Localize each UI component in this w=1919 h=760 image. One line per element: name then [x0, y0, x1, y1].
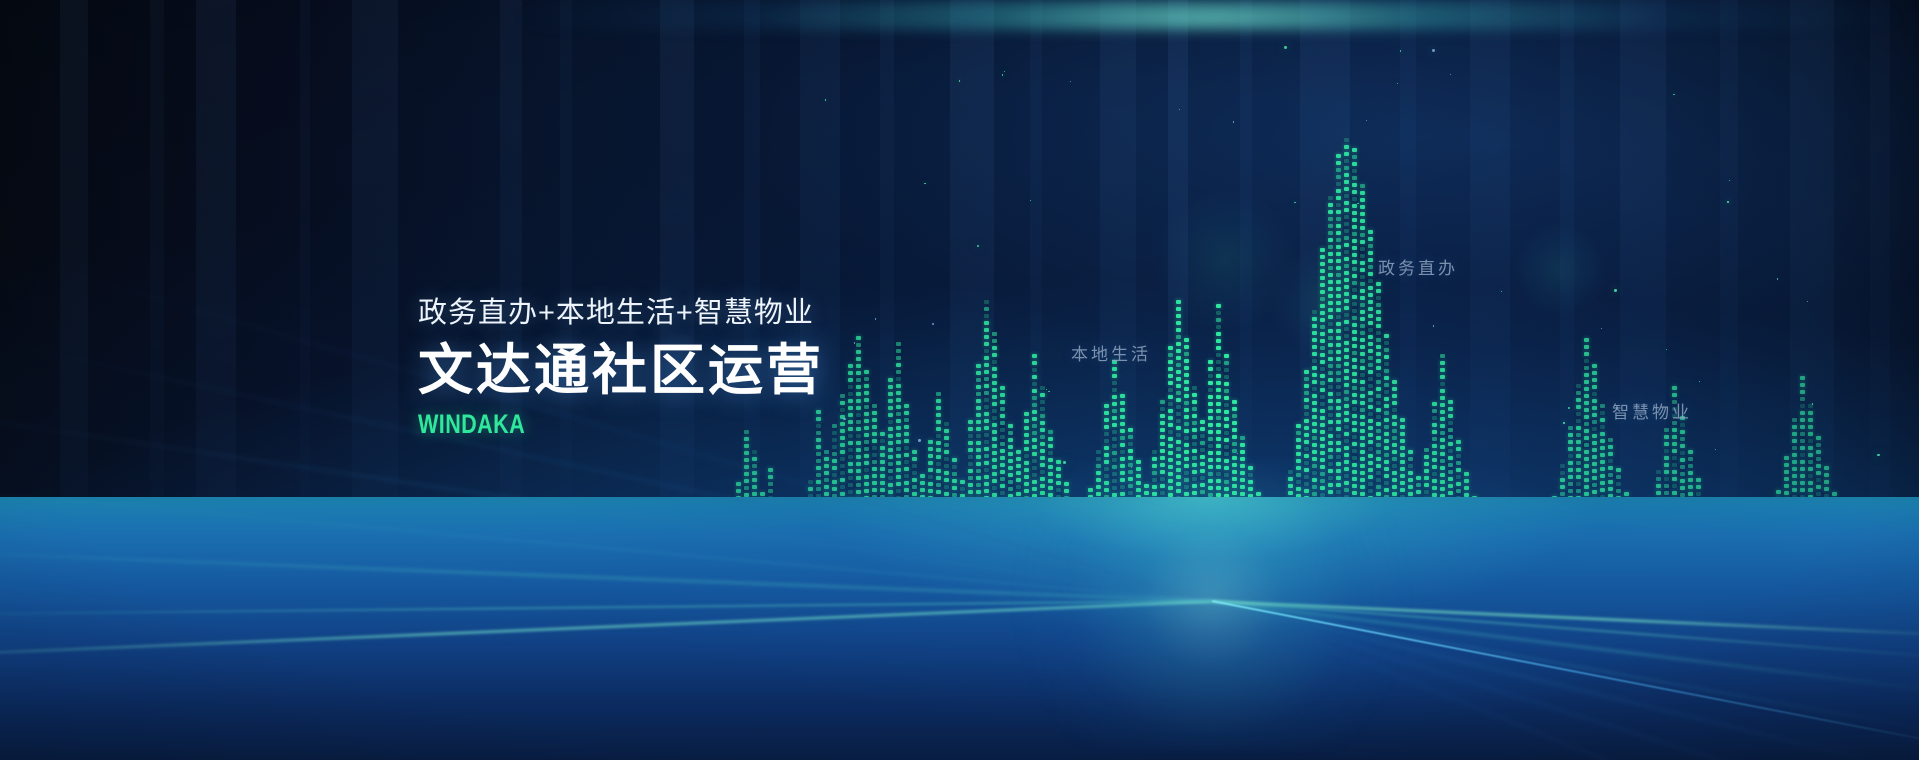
city-pixel: [1880, 579, 1885, 583]
city-pixel-column: [1776, 490, 1781, 600]
city-pixel: [1440, 424, 1445, 428]
city-pixel: [1072, 588, 1077, 592]
city-pixel: [1096, 464, 1101, 468]
city-pixel: [1120, 478, 1125, 482]
city-pixel: [1360, 541, 1365, 545]
city-pixel: [1712, 527, 1717, 531]
city-pixel: [1808, 404, 1813, 408]
city-pixel: [1400, 509, 1405, 513]
city-pixel-column: [1168, 346, 1173, 600]
city-pixel: [1552, 545, 1557, 549]
city-pixel: [1320, 437, 1325, 441]
city-pixel: [1664, 463, 1669, 467]
city-pixel: [1584, 492, 1589, 496]
city-pixel: [1344, 509, 1349, 513]
city-pixel: [1576, 475, 1581, 479]
city-pixel: [912, 506, 917, 510]
city-pixel: [1176, 405, 1181, 409]
city-pixel: [1440, 431, 1445, 435]
city-pixel: [1368, 363, 1373, 367]
city-pixel: [1608, 522, 1613, 526]
city-pixel: [992, 584, 997, 588]
city-pixel: [1360, 366, 1365, 370]
city-pixel-column: [1752, 556, 1757, 600]
city-pixel: [856, 581, 861, 585]
city-pixel: [864, 524, 869, 528]
city-pixel: [1080, 551, 1085, 555]
city-pixel: [1808, 579, 1813, 583]
city-pixel: [1192, 589, 1197, 593]
city-pixel: [1872, 573, 1877, 577]
city-pixel: [1768, 525, 1773, 529]
city-pixel: [1256, 555, 1261, 559]
city-pixel: [1360, 450, 1365, 454]
city-pixel: [1224, 368, 1229, 372]
city-pixel: [1560, 590, 1565, 594]
city-pixel: [1360, 520, 1365, 524]
city-pixel: [752, 457, 757, 461]
city-pixel: [1256, 569, 1261, 573]
city-pixel: [1784, 575, 1789, 579]
city-pixel: [1288, 519, 1293, 523]
city-pixel: [1312, 429, 1317, 433]
city-pixel: [1232, 414, 1237, 418]
city-pixel: [1152, 464, 1157, 468]
city-pixel: [1392, 394, 1397, 398]
city-pixel: [768, 587, 773, 591]
city-pixel: [1240, 506, 1245, 510]
city-pixel: [1720, 557, 1725, 561]
city-pixel: [1368, 307, 1373, 311]
city-pixel: [1032, 501, 1037, 505]
city-pixel: [1536, 570, 1541, 574]
city-pixel: [1376, 450, 1381, 454]
city-pixel: [1792, 593, 1797, 597]
city-pixel: [1768, 581, 1773, 585]
city-pixel: [1352, 449, 1357, 453]
city-pixel: [1624, 513, 1629, 517]
city-pixel: [1408, 562, 1413, 566]
city-pixel: [776, 549, 781, 553]
city-pixel: [1560, 548, 1565, 552]
city-pixel: [1888, 585, 1893, 589]
city-pixel: [1144, 505, 1149, 509]
city-pixel: [1624, 562, 1629, 566]
city-pixel: [1344, 152, 1349, 156]
city-pixel: [1576, 580, 1581, 584]
city-pixel: [1024, 545, 1029, 549]
city-pixel: [800, 536, 805, 540]
city-pixel: [1296, 585, 1301, 589]
city-pixel: [808, 571, 813, 575]
city-pixel: [1456, 475, 1461, 479]
city-pixel: [1392, 422, 1397, 426]
city-pixel: [736, 580, 741, 584]
city-pixel: [1016, 562, 1021, 566]
city-pixel: [1104, 481, 1109, 485]
city-pixel: [1336, 238, 1341, 242]
city-pixel: [1424, 490, 1429, 494]
city-pixel: [1376, 317, 1381, 321]
city-pixel: [944, 471, 949, 475]
city-pixel: [816, 466, 821, 470]
city-pixel: [888, 497, 893, 501]
city-pixel: [1216, 542, 1221, 546]
city-pixel: [1344, 453, 1349, 457]
city-pixel: [1168, 542, 1173, 546]
city-pixel: [1368, 496, 1373, 500]
city-pixel: [920, 530, 925, 534]
city-pixel: [760, 541, 765, 545]
city-pixel: [872, 516, 877, 520]
city-pixel: [1112, 395, 1117, 399]
city-pixel-column: [1088, 488, 1093, 600]
city-pixel: [1560, 576, 1565, 580]
city-pixel: [1368, 398, 1373, 402]
city-pixel: [1584, 352, 1589, 356]
city-pixel: [1792, 544, 1797, 548]
city-pixel: [1784, 533, 1789, 537]
city-pixel: [744, 556, 749, 560]
city-pixel: [904, 593, 909, 597]
city-pixel: [1040, 519, 1045, 523]
city-pixel: [1176, 461, 1181, 465]
city-pixel: [752, 513, 757, 517]
city-pixel: [1192, 547, 1197, 551]
city-pixel: [928, 587, 933, 591]
city-pixel: [992, 549, 997, 553]
city-pixel: [1072, 560, 1077, 564]
city-pixel: [1712, 576, 1717, 580]
city-pixel: [1248, 536, 1253, 540]
city-pixel: [936, 476, 941, 480]
city-pixel: [1384, 397, 1389, 401]
city-pixel: [1432, 591, 1437, 595]
city-pixel: [1392, 590, 1397, 594]
city-pixel-column: [1704, 502, 1709, 600]
city-pixel: [1320, 444, 1325, 448]
city-pixel: [1816, 541, 1821, 545]
city-pixel: [1512, 572, 1517, 576]
city-pixel: [984, 454, 989, 458]
city-pixel: [1272, 554, 1277, 558]
city-pixel: [984, 573, 989, 577]
city-pixel-column: [1848, 532, 1853, 600]
city-pixel: [1176, 433, 1181, 437]
city-pixel: [896, 454, 901, 458]
city-pixel-column: [1520, 562, 1525, 600]
city-pixel: [1232, 554, 1237, 558]
city-pixel: [1152, 520, 1157, 524]
city-pixel: [1104, 537, 1109, 541]
city-pixel: [1408, 450, 1413, 454]
city-pixel: [1656, 554, 1661, 558]
city-pixel: [848, 441, 853, 445]
city-pixel: [984, 524, 989, 528]
city-pixel: [1032, 354, 1037, 358]
city-pixel: [832, 536, 837, 540]
city-pixel: [1344, 418, 1349, 422]
city-pixel-column: [1608, 438, 1613, 600]
city-pixel: [968, 539, 973, 543]
city-pixel: [1168, 416, 1173, 420]
city-pixel: [744, 514, 749, 518]
city-pixel: [1208, 514, 1213, 518]
city-pixel: [1408, 457, 1413, 461]
city-pixel: [1312, 471, 1317, 475]
city-pixel: [1104, 523, 1109, 527]
city-pixel: [1344, 187, 1349, 191]
city-pixel: [1400, 565, 1405, 569]
city-pixel-column: [1216, 304, 1221, 600]
city-pixel: [1664, 547, 1669, 551]
city-pixel: [1136, 495, 1141, 499]
city-pixel: [1256, 590, 1261, 594]
city-pixel: [1632, 540, 1637, 544]
city-pixel: [872, 460, 877, 464]
city-pixel: [1720, 543, 1725, 547]
city-pixel: [776, 542, 781, 546]
city-pixel: [1208, 409, 1213, 413]
city-pixel: [936, 539, 941, 543]
city-pixel: [888, 567, 893, 571]
city-pixel: [1744, 587, 1749, 591]
city-pixel: [1584, 401, 1589, 405]
city-pixel: [1352, 512, 1357, 516]
city-pixel: [912, 555, 917, 559]
city-pixel: [1792, 453, 1797, 457]
city-pixel: [1056, 523, 1061, 527]
city-pixel: [776, 521, 781, 525]
city-pixel: [1680, 444, 1685, 448]
city-pixel: [1560, 527, 1565, 531]
city-pixel-column: [752, 450, 757, 600]
city-pixel: [1440, 536, 1445, 540]
city-pixel: [752, 506, 757, 510]
city-pixel: [992, 437, 997, 441]
city-pixel: [1824, 522, 1829, 526]
city-pixel: [832, 473, 837, 477]
city-pixel: [1312, 373, 1317, 377]
city-pixel: [1616, 517, 1621, 521]
city-pixel: [1312, 380, 1317, 384]
city-pixel: [1696, 590, 1701, 594]
city-pixel: [1312, 513, 1317, 517]
city-pixel-column: [1256, 492, 1261, 600]
city-pixel: [1360, 429, 1365, 433]
city-pixel: [1656, 491, 1661, 495]
city-pixel: [1392, 401, 1397, 405]
city-pixel: [984, 496, 989, 500]
city-pixel: [1120, 555, 1125, 559]
city-pixel: [1360, 345, 1365, 349]
city-pixel: [1224, 536, 1229, 540]
city-pixel: [1192, 533, 1197, 537]
city-pixel: [1080, 530, 1085, 534]
city-pixel: [1344, 439, 1349, 443]
city-pixel: [944, 569, 949, 573]
city-pixel: [1600, 439, 1605, 443]
city-pixel: [808, 585, 813, 589]
city-pixel: [1384, 453, 1389, 457]
city-pixel: [744, 493, 749, 497]
city-pixel: [1320, 276, 1325, 280]
city-pixel: [776, 584, 781, 588]
city-pixel-column: [1336, 154, 1341, 600]
city-pixel: [1368, 342, 1373, 346]
city-pixel: [1008, 473, 1013, 477]
city-pixel: [1208, 402, 1213, 406]
city-pixel: [1320, 353, 1325, 357]
city-pixel: [928, 475, 933, 479]
city-pixel: [1216, 591, 1221, 595]
city-pixel: [928, 461, 933, 465]
city-pixel: [728, 511, 733, 515]
city-pixel: [1176, 496, 1181, 500]
city-pixel: [1504, 566, 1509, 570]
city-pixel: [1800, 516, 1805, 520]
city-pixel: [992, 535, 997, 539]
city-pixel: [1152, 583, 1157, 587]
city-pixel: [1760, 554, 1765, 558]
city-pixel: [1208, 570, 1213, 574]
city-pixel: [1376, 492, 1381, 496]
city-pixel: [1312, 338, 1317, 342]
city-pixel: [920, 537, 925, 541]
city-pixel: [1168, 549, 1173, 553]
city-pixel: [1088, 572, 1093, 576]
city-pixel: [1440, 529, 1445, 533]
city-pixel: [984, 356, 989, 360]
city-pixel: [1768, 560, 1773, 564]
city-pixel: [1192, 477, 1197, 481]
city-pixel: [1184, 443, 1189, 447]
city-pixel: [1080, 593, 1085, 597]
city-pixel: [1280, 574, 1285, 578]
city-pixel: [1088, 586, 1093, 590]
city-pixel: [1592, 427, 1597, 431]
city-pixel: [1336, 203, 1341, 207]
city-pixel: [1344, 292, 1349, 296]
city-pixel: [1688, 506, 1693, 510]
city-pixel-column: [1872, 566, 1877, 600]
city-pixel: [992, 563, 997, 567]
city-pixel: [1408, 485, 1413, 489]
city-pixel: [1608, 592, 1613, 596]
city-pixel: [1296, 480, 1301, 484]
city-pixel: [1232, 547, 1237, 551]
city-pixel: [1008, 522, 1013, 526]
city-pixel: [936, 504, 941, 508]
city-pixel: [1112, 381, 1117, 385]
city-pixel: [816, 592, 821, 596]
city-pixel: [1400, 495, 1405, 499]
city-pixel: [1800, 411, 1805, 415]
city-pixel: [880, 446, 885, 450]
city-pixel: [856, 441, 861, 445]
city-pixel: [824, 485, 829, 489]
city-pixel: [1304, 482, 1309, 486]
city-pixel: [1864, 593, 1869, 597]
city-pixel: [1440, 480, 1445, 484]
city-pixel: [824, 513, 829, 517]
city-pixel: [1360, 212, 1365, 216]
city-pixel: [1336, 490, 1341, 494]
city-pixel: [1160, 533, 1165, 537]
city-pixel: [920, 544, 925, 548]
city-pixel: [920, 474, 925, 478]
city-pixel: [1320, 521, 1325, 525]
city-pixel: [1432, 402, 1437, 406]
city-pixel: [1144, 498, 1149, 502]
city-pixel-column: [1352, 148, 1357, 600]
city-pixel-column: [1736, 558, 1741, 600]
city-pixel: [880, 453, 885, 457]
city-pixel: [1544, 536, 1549, 540]
city-pixel: [776, 577, 781, 581]
city-pixel: [1544, 585, 1549, 589]
city-pixel: [1184, 576, 1189, 580]
city-pixel: [1840, 556, 1845, 560]
city-pixel: [1376, 296, 1381, 300]
city-pixel-column: [1440, 354, 1445, 600]
city-pixel: [1824, 564, 1829, 568]
city-pixel: [1816, 555, 1821, 559]
city-pixel: [1840, 570, 1845, 574]
city-pixel: [984, 503, 989, 507]
city-pixel: [1368, 272, 1373, 276]
city-pixel: [1296, 473, 1301, 477]
city-pixel: [1296, 431, 1301, 435]
city-pixel: [808, 494, 813, 498]
city-pixel: [1776, 567, 1781, 571]
city-pixel: [1480, 565, 1485, 569]
city-pixel-column: [1664, 428, 1669, 600]
city-pixel: [1144, 526, 1149, 530]
city-pixel: [1376, 569, 1381, 573]
city-pixel: [1784, 561, 1789, 565]
city-pixel: [1672, 512, 1677, 516]
city-pixel: [1120, 527, 1125, 531]
city-pixel: [1136, 558, 1141, 562]
city-pixel-column: [1152, 450, 1157, 600]
city-pixel: [1352, 421, 1357, 425]
city-pixel: [1816, 450, 1821, 454]
city-pixel: [1680, 507, 1685, 511]
city-pixel: [928, 566, 933, 570]
city-pixel: [1008, 445, 1013, 449]
city-pixel: [872, 446, 877, 450]
city-pixel: [1536, 591, 1541, 595]
city-pixel: [1264, 521, 1269, 525]
city-pixel: [1000, 533, 1005, 537]
city-pixel: [1000, 568, 1005, 572]
city-pixel: [1176, 314, 1181, 318]
city-pixel: [856, 490, 861, 494]
city-pixel: [848, 483, 853, 487]
city-pixel: [1328, 371, 1333, 375]
city-pixel: [992, 542, 997, 546]
city-pixel: [1304, 559, 1309, 563]
city-pixel: [1336, 378, 1341, 382]
city-pixel: [1440, 585, 1445, 589]
city-pixel: [1136, 488, 1141, 492]
city-pixel: [880, 537, 885, 541]
city-pixel-column: [1560, 464, 1565, 600]
city-pixel: [1200, 546, 1205, 550]
city-pixel: [1360, 415, 1365, 419]
city-pixel: [1344, 243, 1349, 247]
